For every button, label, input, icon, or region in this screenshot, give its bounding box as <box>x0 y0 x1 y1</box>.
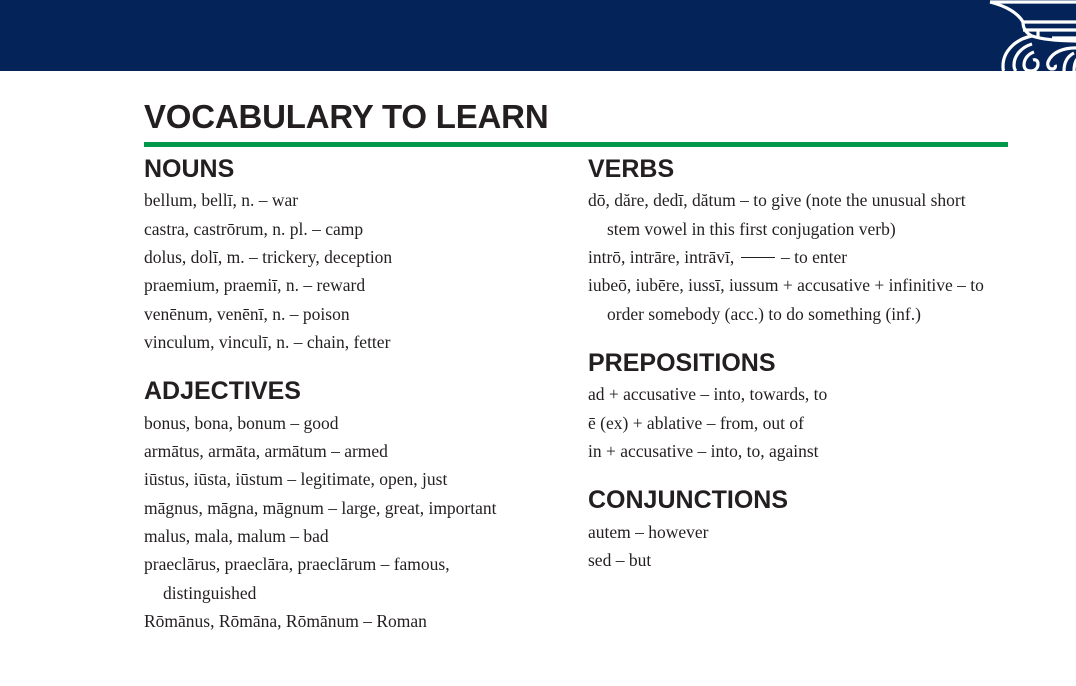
vocabulary-columns: NOUNS bellum, bellī, n. – war castra, ca… <box>144 156 1008 676</box>
vocabulary-entry: iubeō, iubēre, iussī, iussum + accusativ… <box>588 271 990 328</box>
page-title: VOCABULARY TO LEARN <box>144 100 548 133</box>
vocabulary-entry: praeclārus, praeclāra, praeclārum – famo… <box>144 550 546 607</box>
vocabulary-entry: vinculum, vinculī, n. – chain, fetter <box>144 328 546 356</box>
missing-form-rule <box>741 257 775 258</box>
vocabulary-entry: dolus, dolī, m. – trickery, deception <box>144 243 546 271</box>
vocabulary-entry: ad + accusative – into, towards, to <box>588 380 990 408</box>
vocabulary-entry: iūstus, iūsta, iūstum – legitimate, open… <box>144 465 546 493</box>
section-heading-verbs: VERBS <box>588 156 990 182</box>
vocabulary-entry: bonus, bona, bonum – good <box>144 409 546 437</box>
section-nouns: NOUNS bellum, bellī, n. – war castra, ca… <box>144 156 546 356</box>
section-heading-conjunctions: CONJUNCTIONS <box>588 487 990 513</box>
vocabulary-entry: dō, dăre, dedī, dătum – to give (note th… <box>588 186 990 243</box>
vocabulary-entry: venēnum, venēnī, n. – poison <box>144 300 546 328</box>
section-heading-nouns: NOUNS <box>144 156 546 182</box>
section-adjectives: ADJECTIVES bonus, bona, bonum – good arm… <box>144 378 546 635</box>
title-underline-rule <box>144 142 1008 147</box>
left-column: NOUNS bellum, bellī, n. – war castra, ca… <box>144 156 546 635</box>
vocabulary-entry: māgnus, māgna, māgnum – large, great, im… <box>144 494 546 522</box>
right-column: VERBS dō, dăre, dedī, dătum – to give (n… <box>588 156 990 574</box>
vocabulary-entry: castra, castrōrum, n. pl. – camp <box>144 215 546 243</box>
vocabulary-entry: Rōmānus, Rōmāna, Rōmānum – Roman <box>144 607 546 635</box>
ionic-column-capital-ornament <box>960 0 1076 71</box>
vocabulary-entry: bellum, bellī, n. – war <box>144 186 546 214</box>
page-header-banner <box>0 0 1076 71</box>
vocabulary-entry: in + accusative – into, to, against <box>588 437 990 465</box>
section-verbs: VERBS dō, dăre, dedī, dătum – to give (n… <box>588 156 990 328</box>
vocabulary-entry: autem – however <box>588 518 990 546</box>
vocabulary-entry: sed – but <box>588 546 990 574</box>
section-heading-adjectives: ADJECTIVES <box>144 378 546 404</box>
section-prepositions: PREPOSITIONS ad + accusative – into, tow… <box>588 350 990 465</box>
vocabulary-entry: ē (ex) + ablative – from, out of <box>588 409 990 437</box>
ionic-capital-icon <box>960 0 1076 71</box>
section-heading-prepositions: PREPOSITIONS <box>588 350 990 376</box>
vocabulary-entry: intrō, intrāre, intrāvī, – to enter <box>588 243 990 271</box>
vocabulary-entry: praemium, praemiī, n. – reward <box>144 271 546 299</box>
vocabulary-entry: malus, mala, malum – bad <box>144 522 546 550</box>
vocabulary-entry: armātus, armāta, armātum – armed <box>144 437 546 465</box>
section-conjunctions: CONJUNCTIONS autem – however sed – but <box>588 487 990 574</box>
